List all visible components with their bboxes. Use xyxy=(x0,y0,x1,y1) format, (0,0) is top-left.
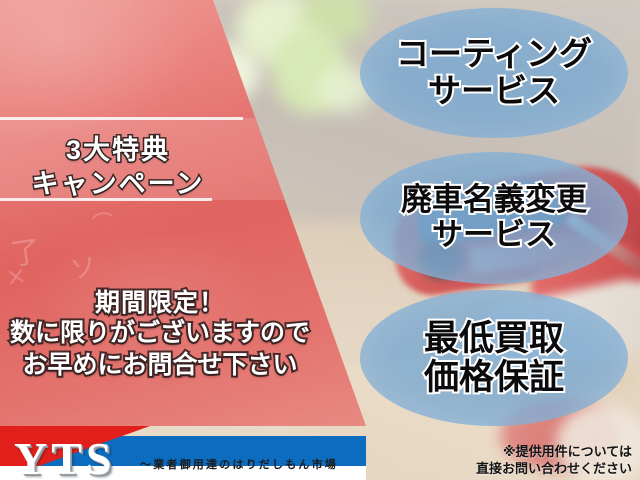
footnote-line-2: 直接お問い合わせください xyxy=(476,458,632,477)
divider-line-top xyxy=(0,117,243,120)
benefit-2-line-1: 廃車名義変更 xyxy=(401,183,587,218)
lead-line-3: お早めにお問合せ下さい xyxy=(0,345,320,381)
benefit-3-line-2: 価格保証 xyxy=(424,358,564,397)
ghost-mark: ⌒ xyxy=(90,205,116,240)
kicker-line-2: キャンペーン xyxy=(0,162,236,201)
benefit-1-line-2: サービス xyxy=(428,73,560,110)
logo-wordmark: YTS xyxy=(14,432,115,480)
ghost-mark: ソ xyxy=(68,246,99,286)
benefit-ellipse-coating: コーティング サービス xyxy=(360,8,628,138)
benefit-3-line-1: 最低買取 xyxy=(424,319,564,358)
benefit-ellipse-scrap-transfer: 廃車名義変更 サービス xyxy=(360,152,628,284)
lead-line-2: 数に限りがございますので xyxy=(0,313,320,349)
logo-tagline: ～業者御用達のはりだしもん市場 xyxy=(140,456,366,472)
promo-banner: ⌒ 了 ソ × 3大特典 キャンペーン 期間限定！ 数に限りがございますので お… xyxy=(0,0,640,480)
benefit-ellipse-price-guarantee: 最低買取 価格保証 xyxy=(360,290,628,426)
benefit-2-line-2: サービス xyxy=(432,218,556,253)
benefit-1-line-1: コーティング xyxy=(396,36,592,73)
